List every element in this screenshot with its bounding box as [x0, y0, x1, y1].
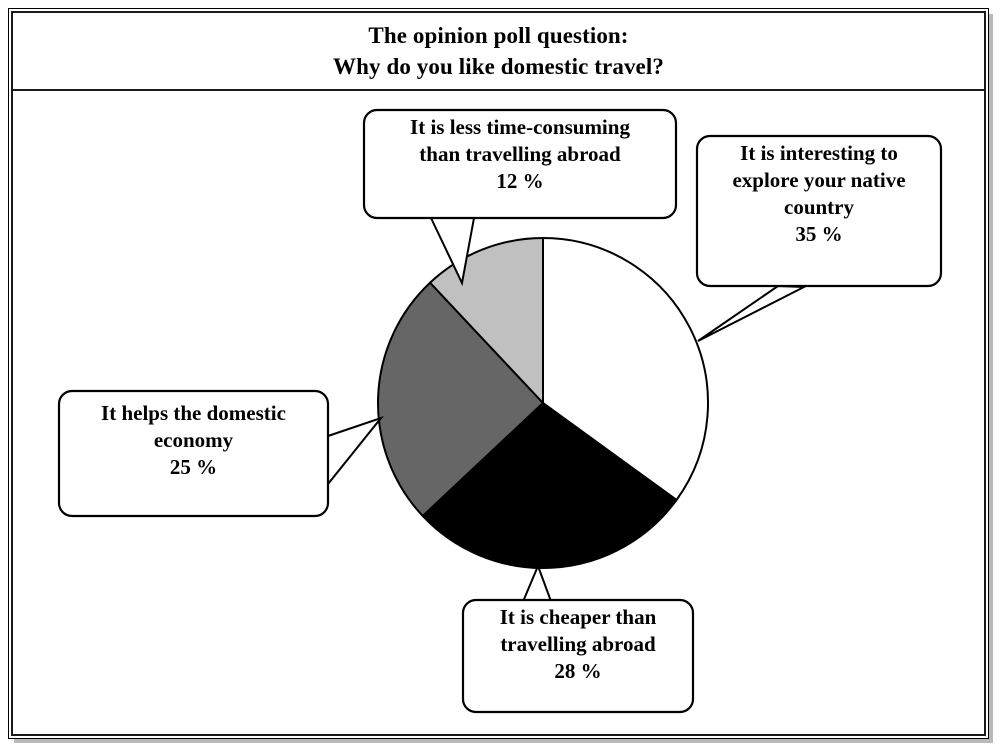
callout-box-interesting-to-explore	[697, 136, 941, 286]
callout-box-less-time-consuming	[364, 110, 676, 218]
callout-box-cheaper-than-travelling	[463, 600, 693, 712]
leader-line-interesting-to-explore	[698, 286, 804, 341]
pie-chart	[0, 0, 1004, 754]
callout-box-domestic-economy	[59, 391, 328, 516]
pie-slice-group	[378, 238, 708, 568]
poll-chart-figure: The opinion poll question: Why do you li…	[0, 0, 1004, 754]
leader-line-domestic-economy	[328, 418, 381, 484]
leader-line-cheaper-than-travelling	[522, 566, 552, 604]
